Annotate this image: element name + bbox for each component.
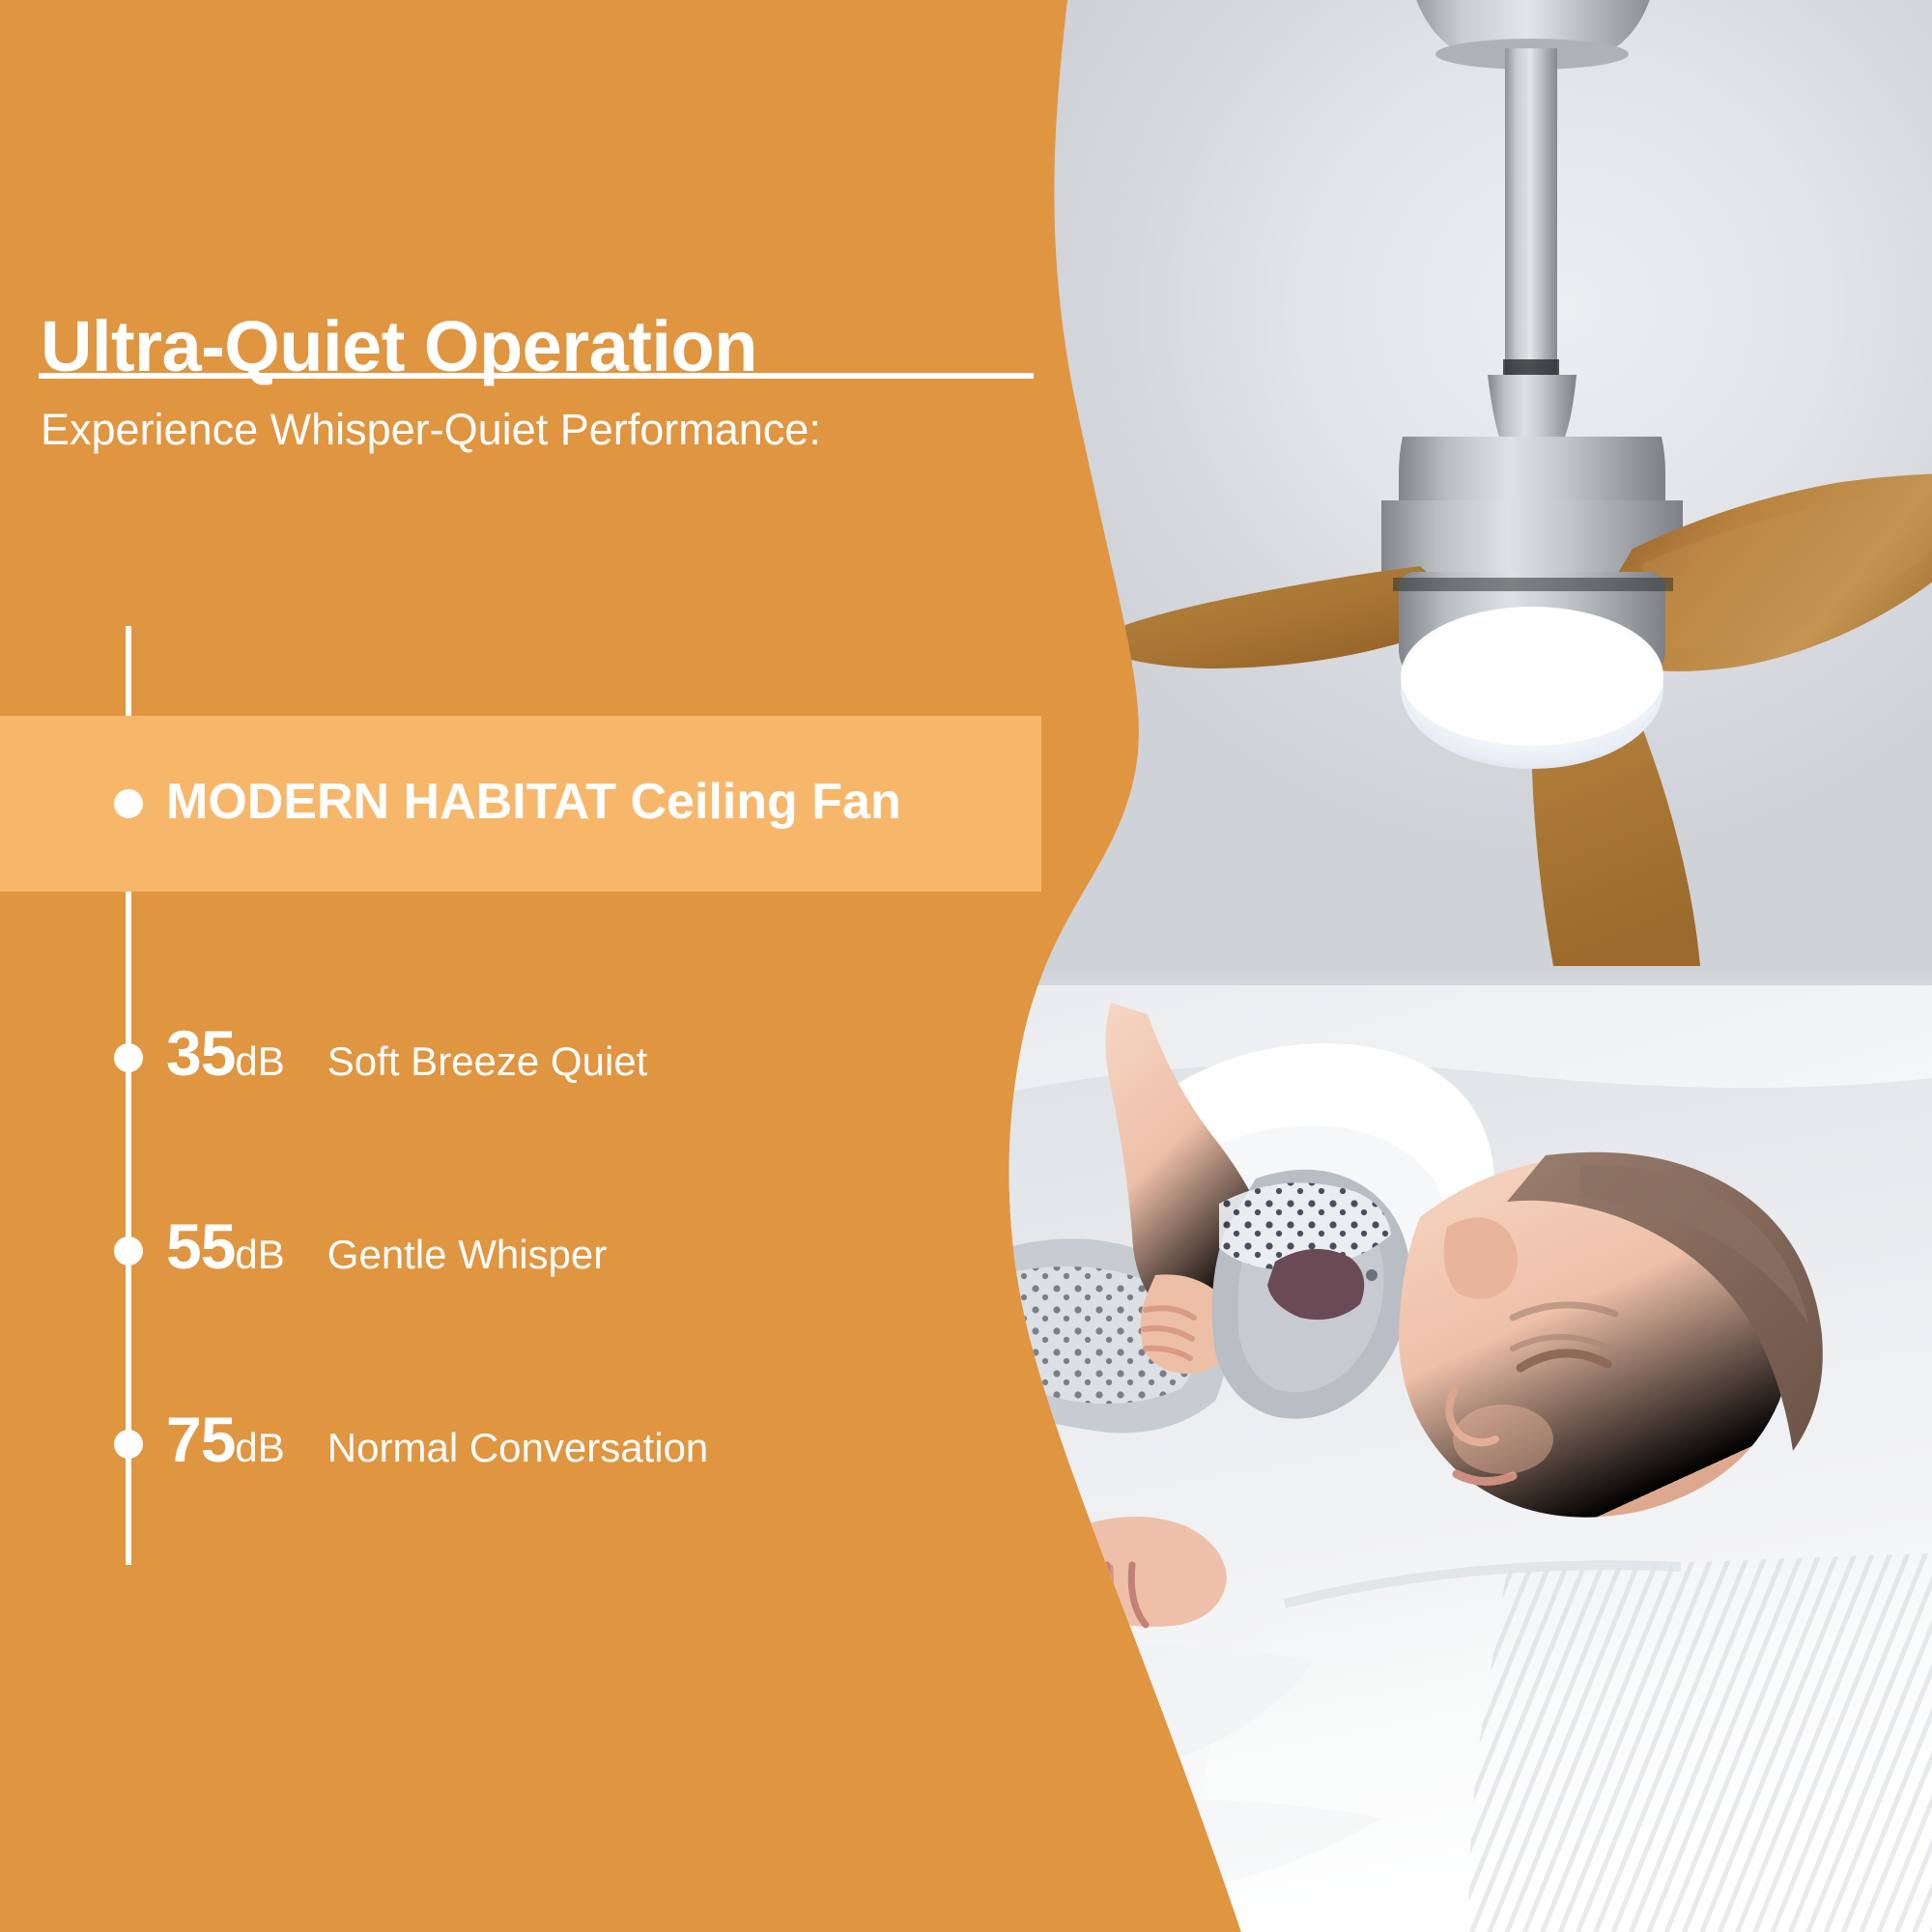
noise-value-0: 35 bbox=[166, 1017, 235, 1089]
noise-unit-0: dB bbox=[235, 1038, 284, 1084]
noise-value-2: 75 bbox=[166, 1404, 235, 1475]
sleeping-baby-illustration bbox=[966, 985, 1932, 1932]
noise-description-1: Gentle Whisper bbox=[327, 1232, 607, 1277]
product-name-label: MODERN HABITAT Ceiling Fan bbox=[166, 773, 901, 831]
noise-row-0: 35dBSoft Breeze Quiet bbox=[166, 1016, 647, 1090]
noise-row-2: 75dBNormal Conversation bbox=[166, 1403, 708, 1476]
noise-description-0: Soft Breeze Quiet bbox=[327, 1038, 648, 1084]
noise-value-1: 55 bbox=[166, 1210, 235, 1282]
photo-panel bbox=[0, 0, 1932, 1932]
noise-unit-1: dB bbox=[235, 1232, 284, 1277]
title-divider bbox=[39, 373, 1034, 379]
timeline-dot-0 bbox=[114, 1043, 143, 1072]
page-title: Ultra-Quiet Operation bbox=[41, 311, 757, 383]
noise-unit-2: dB bbox=[235, 1425, 284, 1470]
infographic-canvas: Ultra-Quiet Operation Experience Whisper… bbox=[0, 0, 1932, 1932]
page-subtitle: Experience Whisper-Quiet Performance: bbox=[41, 406, 821, 454]
timeline-dot-product bbox=[114, 789, 143, 818]
noise-row-1: 55dBGentle Whisper bbox=[166, 1209, 607, 1283]
timeline-dot-2 bbox=[114, 1430, 143, 1459]
noise-description-2: Normal Conversation bbox=[327, 1425, 709, 1470]
timeline-dot-1 bbox=[114, 1236, 143, 1265]
